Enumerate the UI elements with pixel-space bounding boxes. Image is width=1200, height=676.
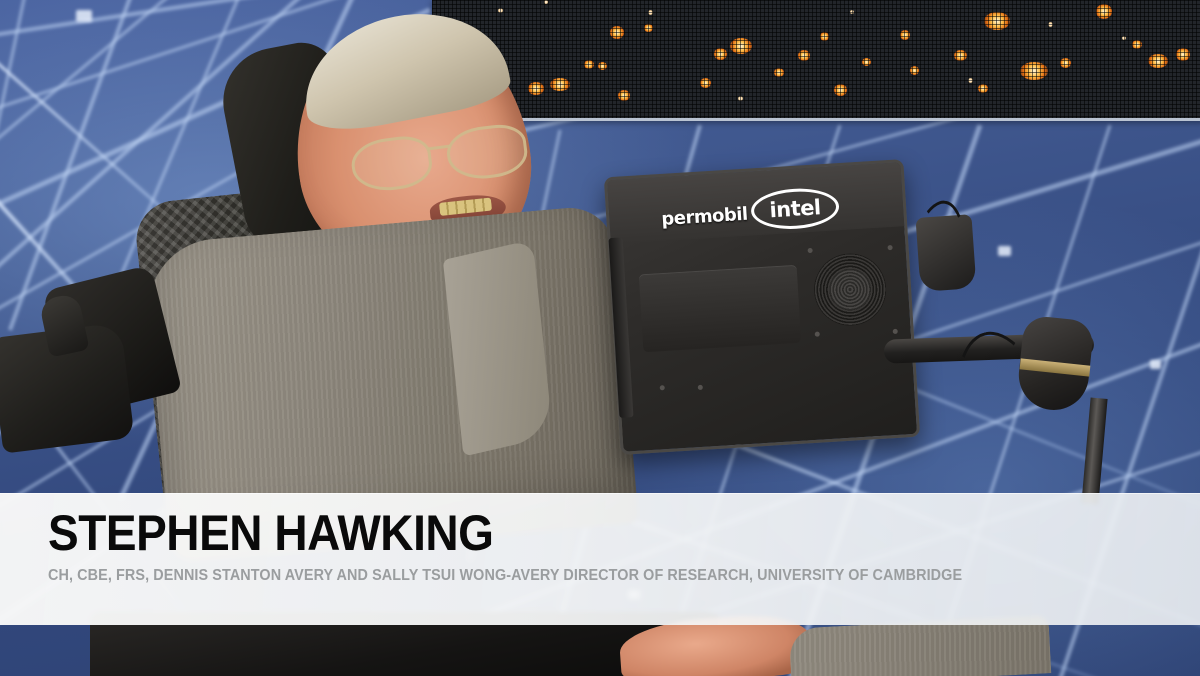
screw-icon <box>815 332 820 337</box>
screw-icon <box>887 245 892 250</box>
broadcast-video-frame: permobil intel STEPHEN HAWKING CH, CBE, … <box>0 0 1200 676</box>
speaker-name: STEPHEN HAWKING <box>48 508 493 558</box>
screw-icon <box>893 329 898 334</box>
speaker-grille <box>812 251 888 327</box>
speech-generating-tablet[interactable]: permobil intel <box>604 159 920 455</box>
screw-icon <box>698 385 703 390</box>
tablet-panel-plate <box>639 265 801 353</box>
eyeglass-lens-right <box>444 122 530 183</box>
teeth <box>439 198 492 216</box>
eyeglass-lens-left <box>349 133 435 194</box>
screw-icon <box>660 385 665 390</box>
screw-icon <box>807 248 812 253</box>
speaker-title: CH, CBE, FRS, DENNIS STANTON AVERY AND S… <box>48 568 962 584</box>
mount-support-post <box>1081 397 1107 504</box>
